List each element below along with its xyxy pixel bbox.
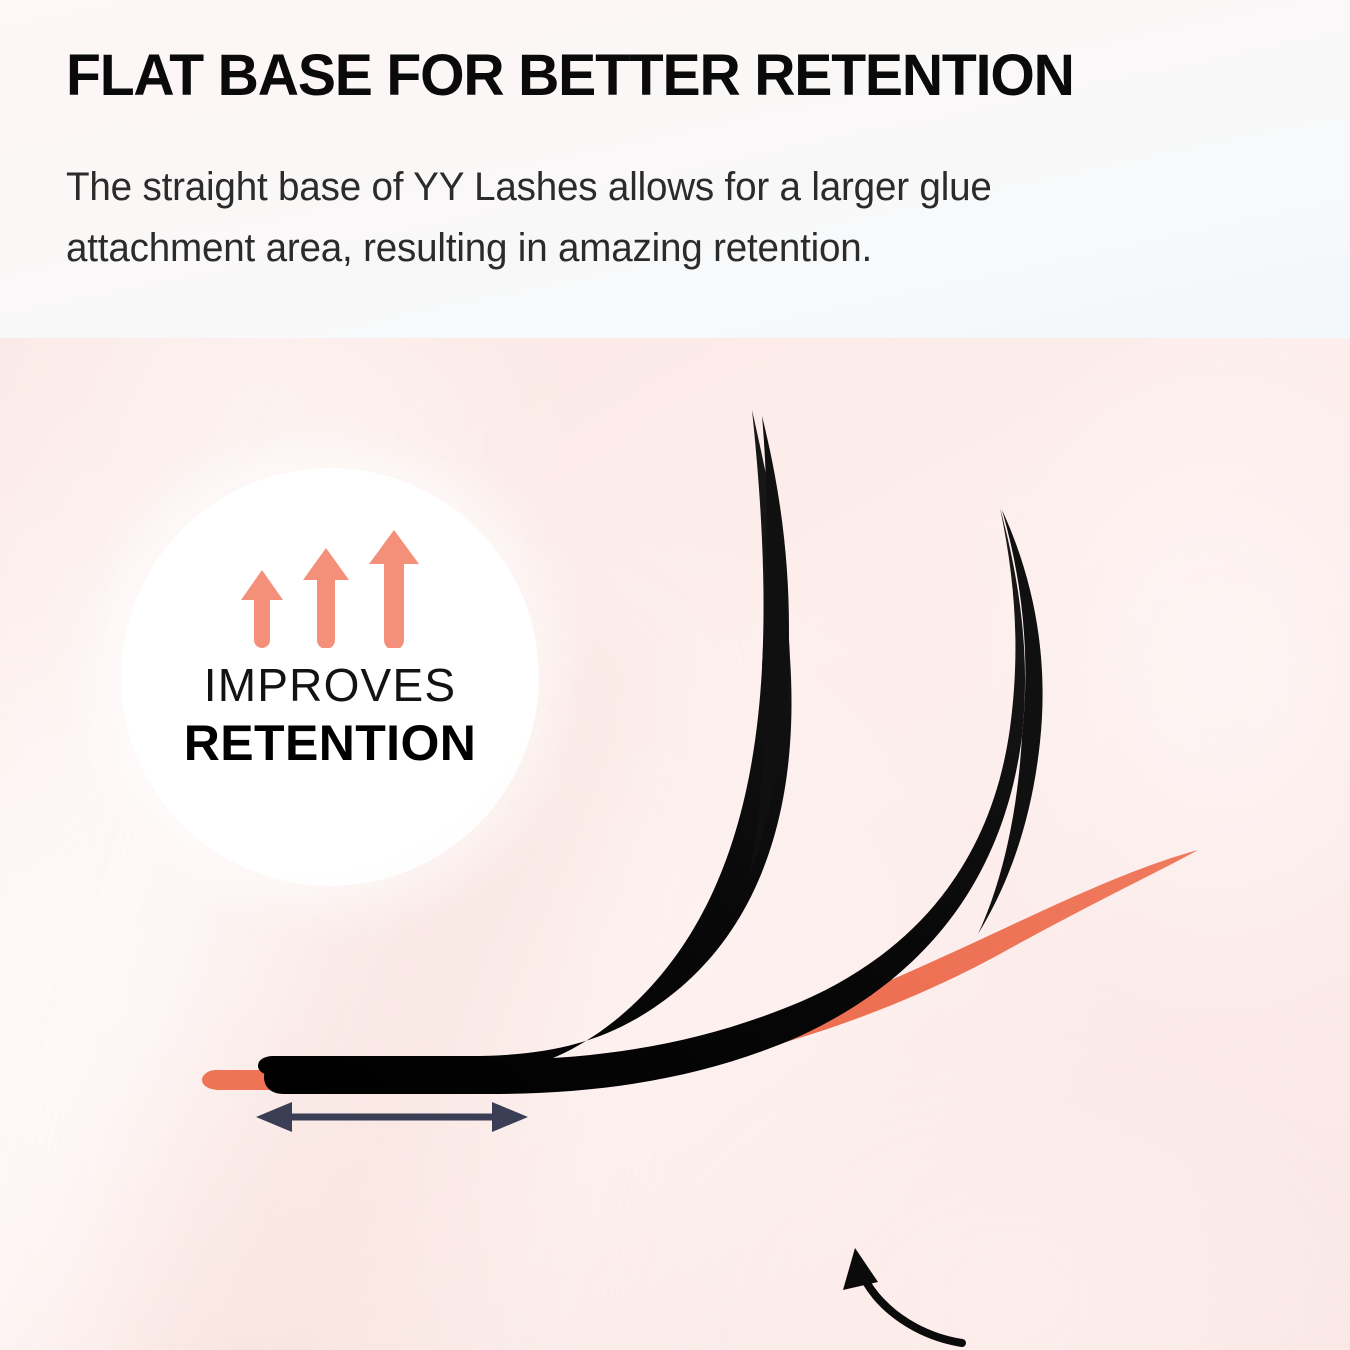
page-title: FLAT BASE FOR BETTER RETENTION	[66, 47, 1074, 105]
rising-arrow-large-icon	[367, 530, 421, 648]
infographic-page: FLAT BASE FOR BETTER RETENTION The strai…	[0, 0, 1350, 1350]
badge-text-block: IMPROVES RETENTION	[121, 660, 539, 771]
badge-label-improves: IMPROVES	[121, 660, 539, 711]
natural-lash-pointer-arrow	[843, 1248, 962, 1343]
badge-label-retention: RETENTION	[121, 715, 539, 771]
page-subtitle: The straight base of YY Lashes allows fo…	[66, 157, 1185, 279]
improves-retention-badge: IMPROVES RETENTION	[121, 468, 539, 886]
header-section: FLAT BASE FOR BETTER RETENTION The strai…	[0, 0, 1350, 338]
lash-diagram-artwork	[0, 338, 1350, 1350]
attachment-measure-arrow	[256, 1102, 528, 1132]
three-rising-arrows-icon	[121, 530, 539, 648]
rising-arrow-small-icon	[239, 570, 285, 648]
rising-arrow-medium-icon	[301, 548, 351, 648]
illustration-panel: IMPROVES RETENTION ATTACHMENT AREA NATUR…	[0, 338, 1350, 1350]
